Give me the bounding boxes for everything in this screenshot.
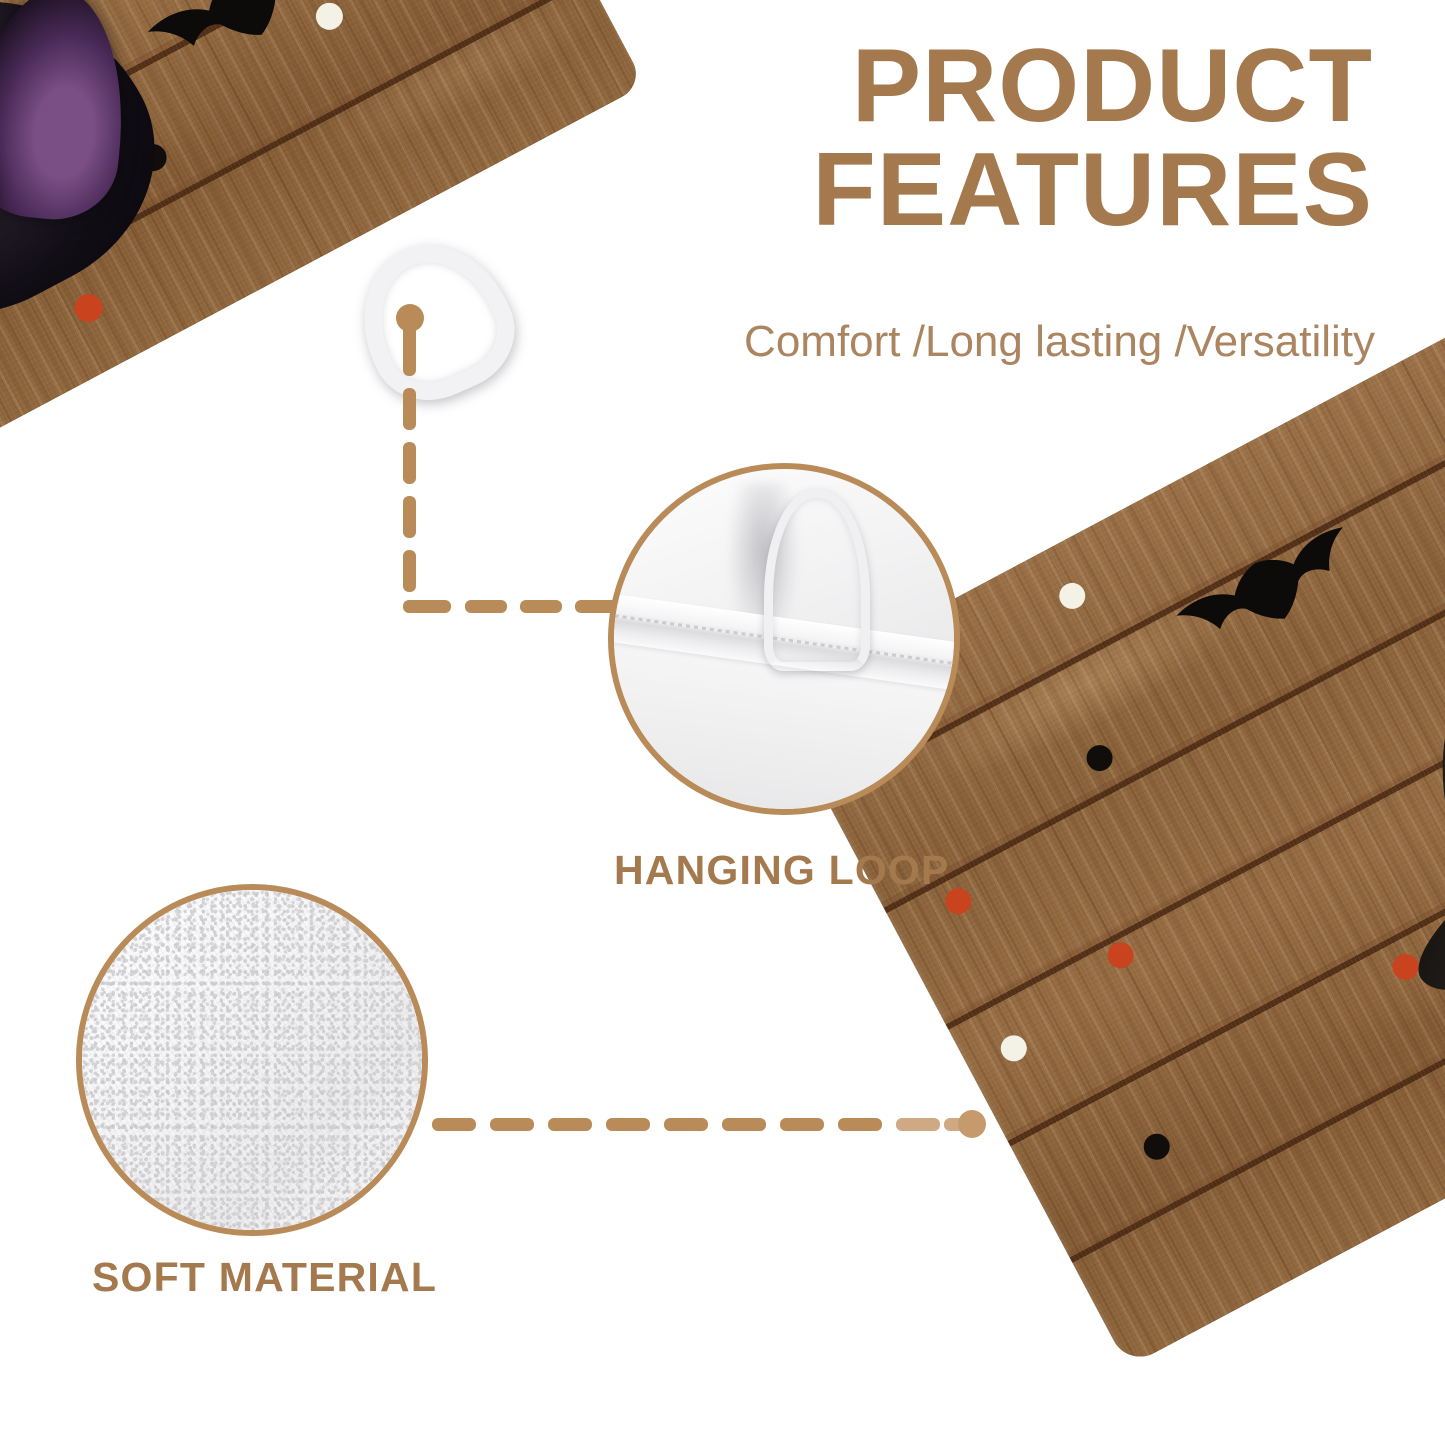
material-connector-dash bbox=[664, 1118, 708, 1131]
mat-top-left bbox=[0, 0, 645, 592]
material-connector-dash bbox=[896, 1118, 940, 1131]
loop-connector-dash bbox=[465, 600, 507, 613]
material-connector-dash bbox=[838, 1118, 882, 1131]
soft-material-photo bbox=[82, 890, 422, 1230]
soft-material-detail-circle bbox=[76, 884, 428, 1236]
material-connector-dash bbox=[548, 1118, 592, 1131]
soft-material-caption: SOFT MATERIAL bbox=[92, 1254, 437, 1301]
hanging-loop-caption: HANGING LOOP bbox=[614, 847, 950, 894]
hanging-loop-tab bbox=[337, 221, 532, 419]
material-connector-dash bbox=[722, 1118, 766, 1131]
page-title: PRODUCT FEATURES bbox=[653, 34, 1373, 242]
material-connector-dash bbox=[780, 1118, 824, 1131]
loop-connector-dash bbox=[403, 496, 416, 538]
page-subtitle: Comfort /Long lasting /Versatility bbox=[635, 316, 1375, 369]
hanging-loop-detail-circle bbox=[608, 463, 960, 815]
loop-connector-dash bbox=[403, 442, 416, 484]
loop-connector-corner bbox=[403, 600, 451, 613]
material-connector-dash bbox=[606, 1118, 650, 1131]
loop-connector-dash bbox=[403, 318, 416, 376]
product-features-infographic: PRODUCT FEATURES Comfort /Long lasting /… bbox=[0, 0, 1445, 1445]
loop-connector-dash bbox=[520, 600, 562, 613]
material-connector-endpoint-dot bbox=[958, 1110, 986, 1138]
hanging-loop-photo bbox=[614, 469, 954, 809]
loop-connector-dash bbox=[403, 550, 416, 592]
loop-connector-dash bbox=[403, 388, 416, 430]
material-connector-dash bbox=[432, 1118, 476, 1131]
material-connector-dash bbox=[490, 1118, 534, 1131]
